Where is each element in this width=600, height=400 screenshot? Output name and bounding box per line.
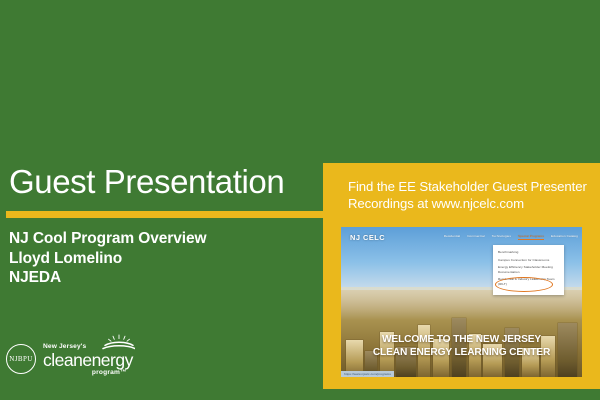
nav-dropdown-menu[interactable]: Benchmarking Campus Connection for Class… <box>493 245 564 295</box>
site-nav[interactable]: Residential Commercial Technologies Spec… <box>444 234 578 240</box>
logo-line-cleanenergy: cleanenergy <box>43 351 133 369</box>
gold-panel: Find the EE Stakeholder Guest Presenter … <box>323 163 600 389</box>
panel-caption-line-1: Find the EE Stakeholder Guest Presenter <box>348 178 600 195</box>
dropdown-item-benchmarking[interactable]: Benchmarking <box>498 250 560 254</box>
subtitle-block: NJ Cool Program Overview Lloyd Lomelino … <box>9 229 319 288</box>
logo-wordmark: New Jersey's cleanenergy program™ <box>43 341 133 377</box>
njbpu-seal-icon: NJBPU <box>6 344 36 374</box>
dropdown-item-stakeholder-meeting[interactable]: Energy Efficiency Stakeholder Meeting Do… <box>498 265 560 274</box>
nav-item-residential[interactable]: Residential <box>444 234 460 240</box>
website-screenshot: NJ CELC Residential Commercial Technolog… <box>341 227 582 377</box>
nav-item-commercial[interactable]: Commercial <box>467 234 485 240</box>
hero-heading-line-1: WELCOME TO THE NEW JERSEY <box>341 334 582 347</box>
subtitle-line-program: NJ Cool Program Overview <box>9 229 319 249</box>
site-brand-logo[interactable]: NJ CELC <box>350 233 385 242</box>
browser-status-url: https://www.njcelc.com/programs <box>341 371 394 377</box>
title-block: Guest Presentation <box>6 163 336 201</box>
title-underline-rule <box>6 211 324 218</box>
dropdown-item-campus-connection[interactable]: Campus Connection for Classrooms <box>498 258 560 262</box>
hero-heading: WELCOME TO THE NEW JERSEY CLEAN ENERGY L… <box>341 334 582 359</box>
nav-item-education-catalog[interactable]: Education Catalog <box>551 234 578 240</box>
panel-caption-line-2: Recordings at www.njcelc.com <box>348 195 600 212</box>
hero-heading-line-2: CLEAN ENERGY LEARNING CENTER <box>341 347 582 360</box>
njcep-logo: NJBPU New Jersey's cleanenergy program™ <box>6 341 133 377</box>
panel-caption: Find the EE Stakeholder Guest Presenter … <box>348 178 600 212</box>
logo-line-program: program™ <box>43 369 133 377</box>
njbpu-seal-label: NJBPU <box>9 356 32 363</box>
presentation-slide: Guest Presentation NJ Cool Program Overv… <box>0 0 600 400</box>
nav-item-special-programs[interactable]: Special Programs <box>518 234 544 240</box>
page-title: Guest Presentation <box>9 163 336 201</box>
dropdown-item-leadership-team[interactable]: Residential & Industry Leadership Team (… <box>498 277 560 286</box>
subtitle-line-presenter: Lloyd Lomelino <box>9 249 319 269</box>
subtitle-line-organization: NJEDA <box>9 268 319 288</box>
nav-item-technologies[interactable]: Technologies <box>492 234 511 240</box>
sunrise-icon <box>81 334 135 352</box>
